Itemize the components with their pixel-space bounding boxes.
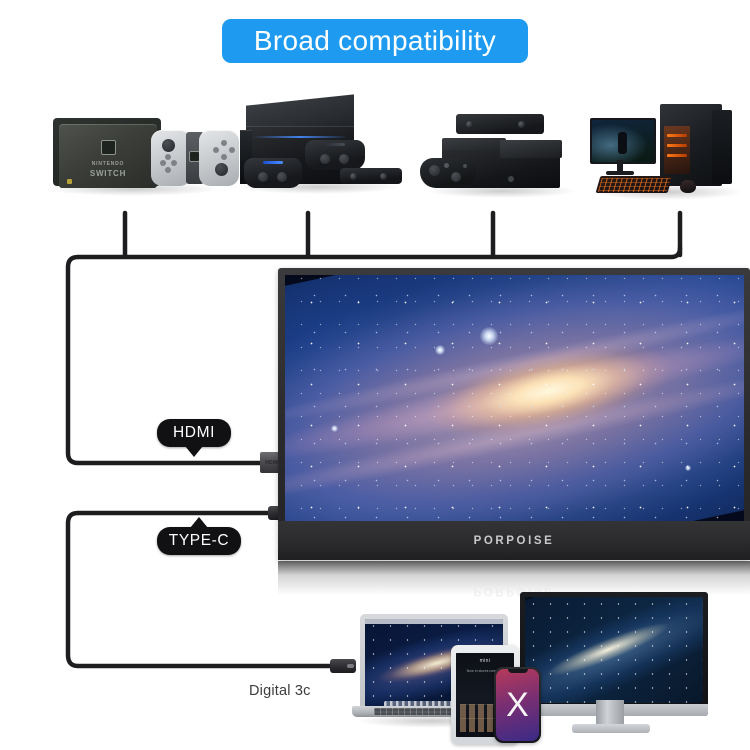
joycon-dpad-right (171, 160, 177, 166)
ps4-camera-lens-right (380, 173, 387, 180)
pc-keyboard (596, 176, 673, 193)
monitor-screen (285, 275, 744, 521)
xbox-controller (420, 158, 476, 188)
switch-logo-line1: NINTENDO (59, 161, 157, 167)
macbook-menu-bar (365, 619, 503, 624)
ps4-camera-lens-left (350, 173, 357, 180)
pc-keyboard-keys (597, 178, 670, 192)
kinect-lens-right (518, 121, 525, 128)
pc-tower-side (712, 110, 732, 184)
imac-stand-neck (596, 700, 624, 726)
imac-frame (520, 592, 708, 716)
pc-monitor-screen (592, 120, 654, 162)
callout-hdmi: HDMI (157, 419, 231, 447)
xbox-guide-button (444, 163, 449, 168)
xbox-button-y (463, 164, 467, 168)
joycon-dpad-left (160, 160, 166, 166)
joycon-dpad-up (165, 154, 171, 160)
portable-monitor: PORPOISE (278, 268, 750, 560)
device-playstation-4 (232, 96, 404, 192)
joycon-button-y (213, 147, 219, 153)
callout-hdmi-label: HDMI (173, 424, 215, 442)
ps4-controller-rear (305, 140, 365, 170)
xbox-power-button (508, 176, 514, 182)
pc-mouse (680, 180, 696, 193)
xbox-console-gloss-right (500, 140, 562, 158)
switch-logo-line2: SWITCH (59, 169, 157, 178)
callout-hdmi-pointer (185, 446, 203, 457)
monitor-brand-label: PORPOISE (474, 535, 555, 547)
joycon-left-stick (162, 139, 175, 152)
xbox-left-stick (429, 165, 440, 176)
joycon-left (151, 130, 191, 186)
footer-caption: Digital 3c (249, 683, 311, 699)
infographic-canvas: Broad compatibility NINTENDO SWITCH (0, 0, 750, 750)
callout-typec-label: TYPE-C (169, 532, 229, 550)
device-gaming-pc (588, 100, 746, 196)
pc-monitor (590, 118, 656, 164)
joycon-button-b (221, 154, 227, 160)
page-title: Broad compatibility (254, 25, 496, 57)
device-iphone-x: X (494, 667, 541, 743)
ps4-controller-lightbar (263, 161, 283, 164)
xbox-kinect-sensor (456, 114, 544, 134)
wallpaper-bright-star-1 (480, 327, 498, 345)
iphone-x-glyph: X (506, 688, 529, 722)
ps4-controller-front (244, 158, 302, 188)
ps4-rear-right-stick (339, 154, 349, 164)
joycon-button-x (221, 140, 227, 146)
imac-wallpaper-stars (525, 597, 703, 703)
page-title-badge: Broad compatibility (222, 19, 528, 63)
imac-screen (525, 597, 703, 703)
device-xbox-one (420, 114, 582, 192)
ps4-rear-left-stick (320, 154, 330, 164)
iphone-screen: X (496, 669, 539, 741)
pc-monitor-game-figure (618, 132, 627, 154)
device-imac (520, 592, 700, 738)
pc-monitor-stand-base (606, 171, 634, 175)
device-nintendo-switch: NINTENDO SWITCH (45, 108, 220, 190)
switch-logo-mark (101, 140, 116, 155)
callout-typec-pointer (190, 517, 208, 528)
joycon-dpad-down (165, 167, 171, 173)
ipad-ui-title: mini (456, 658, 514, 664)
kinect-lens-left (466, 121, 473, 128)
pc-tower-rgb-strip-2 (667, 144, 687, 147)
wallpaper-bright-star-2 (435, 345, 445, 355)
ps4-left-stick (258, 172, 268, 182)
callout-typec: TYPE-C (157, 527, 241, 555)
ps4-right-stick (277, 172, 287, 182)
joycon-grip-logo (189, 151, 200, 162)
switch-power-led (67, 179, 72, 184)
xbox-right-stick (451, 172, 461, 182)
hdmi-connector-label: HDMI (265, 460, 279, 466)
ps4-controller-touchpad (325, 143, 345, 146)
monitor-chin-bar: PORPOISE (278, 521, 750, 560)
ps4-light-bar (252, 136, 348, 138)
imac-stand-foot (572, 724, 650, 733)
monitor-wallpaper-stars (285, 275, 744, 521)
wallpaper-bright-star-3 (331, 425, 338, 432)
switch-dock: NINTENDO SWITCH (59, 124, 157, 188)
joycon-right-stick (215, 163, 228, 176)
wallpaper-bright-star-4 (685, 465, 691, 471)
pc-tower-rgb-strip-1 (667, 134, 687, 137)
iphone-notch (508, 669, 528, 673)
pc-tower-rgb-strip-3 (667, 154, 687, 157)
ps4-camera (340, 168, 402, 184)
